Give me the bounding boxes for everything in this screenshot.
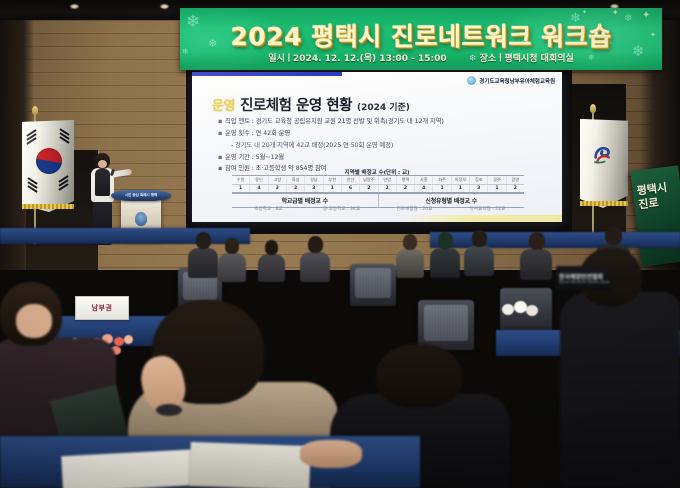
person-body bbox=[188, 248, 218, 278]
snowflake-icon: ❄ bbox=[469, 54, 477, 64]
star-icon: ✦ bbox=[612, 9, 619, 17]
bullet-dot-icon: ▪ bbox=[218, 152, 225, 164]
table-header-cell: 평택 bbox=[397, 176, 415, 184]
person-hand bbox=[300, 440, 362, 468]
person-body bbox=[258, 254, 285, 282]
speaker-face bbox=[98, 160, 107, 168]
podium-sign-text: 시민 중심 특례시 평택 bbox=[121, 193, 161, 198]
podium-top-panel: 시민 중심 특례시 평택 bbox=[111, 190, 171, 201]
bullet-text: - 경기도 내 20개 지역에 42교 배정(2025 연 50회 운영 예정) bbox=[231, 141, 393, 149]
wristwatch bbox=[156, 404, 182, 416]
banner-place-value: 평택시청 대회의실 bbox=[504, 54, 573, 64]
ceiling-light bbox=[70, 4, 79, 9]
chair-mesh bbox=[424, 305, 468, 341]
banner-place-label: 장소 bbox=[480, 54, 497, 64]
audience-person bbox=[218, 238, 246, 282]
jacket-logo: 한국해양안전협회 Korea Maritime Safety Associati… bbox=[556, 266, 610, 290]
table-header-cell: 의정부 bbox=[452, 176, 470, 184]
person-body bbox=[464, 246, 494, 276]
summary-value: 유아교육형 : 22교 bbox=[451, 206, 524, 212]
person-body bbox=[300, 252, 330, 282]
person-head bbox=[265, 240, 278, 255]
table-header-cell: 안양 bbox=[379, 176, 397, 184]
table-cell: 3 bbox=[305, 185, 323, 192]
person-head bbox=[403, 234, 417, 250]
slide-highlight-band bbox=[402, 215, 562, 222]
flower-arrangement bbox=[502, 300, 542, 326]
list-item: ▪운영 기간 : 5월~12월 bbox=[218, 152, 548, 164]
table-cell: 2 bbox=[360, 185, 378, 192]
flag-fringe bbox=[22, 204, 74, 209]
table-row: 1432316222411312 bbox=[232, 185, 524, 192]
table-cell: 2 bbox=[379, 185, 397, 192]
bullet-dot-icon: ▪ bbox=[218, 116, 225, 128]
table-header-cell: 남양주 bbox=[360, 176, 378, 184]
slide-title: 진로체험 운영 현황 bbox=[240, 94, 352, 115]
table-header-cell: 용인 bbox=[250, 176, 268, 184]
projection-slide: 경기도교육청남부유아체험교육원 운영 진로체험 운영 현황 (2024 기준) … bbox=[192, 72, 562, 222]
slide-table: 수원용인고양화성성남부천안산남양주안양평택시흥파주의정부김포광주광명 14323… bbox=[232, 175, 524, 193]
side-banner-line2: 진로 bbox=[638, 195, 670, 212]
table-header-cell: 파주 bbox=[433, 176, 451, 184]
table-cell: 3 bbox=[269, 185, 287, 192]
person-body bbox=[396, 249, 424, 278]
table-cell: 2 bbox=[397, 185, 415, 192]
flag-shading bbox=[580, 118, 628, 208]
org-logo-mark-icon bbox=[467, 76, 476, 85]
person-head bbox=[196, 232, 211, 249]
audience-person bbox=[396, 234, 424, 278]
person-body bbox=[560, 292, 680, 488]
table-cell: 4 bbox=[250, 185, 268, 192]
person-head bbox=[225, 238, 239, 254]
slide-kicker: 운영 bbox=[212, 95, 235, 114]
korean-national-flag bbox=[22, 120, 74, 212]
person-head bbox=[529, 232, 545, 250]
star-icon: ✦ bbox=[582, 10, 587, 16]
list-item: ▪운영 횟수 : 연 42회 운영 bbox=[218, 128, 548, 140]
person-face bbox=[16, 304, 52, 338]
list-item: - 경기도 내 20개 지역에 42교 배정(2025 연 50회 운영 예정) bbox=[218, 140, 548, 152]
person-body bbox=[218, 253, 246, 282]
table-cell: 1 bbox=[433, 185, 451, 192]
table-header-cell: 수원 bbox=[232, 176, 250, 184]
table-header-cell: 시흥 bbox=[415, 176, 433, 184]
bullet-text: 운영 횟수 : 연 42회 운영 bbox=[225, 129, 290, 137]
table-header-cell: 광주 bbox=[488, 176, 506, 184]
table-cell: 4 bbox=[415, 185, 433, 192]
bullet-dot-icon: ▪ bbox=[218, 128, 225, 140]
table-header-cell: 성남 bbox=[305, 176, 323, 184]
table-header-cell: 김포 bbox=[470, 176, 488, 184]
ceiling-light bbox=[160, 4, 169, 9]
table-header-cell: 고양 bbox=[269, 176, 287, 184]
audience-person bbox=[464, 230, 494, 276]
audience-person bbox=[430, 232, 460, 278]
speaker-vest bbox=[95, 169, 110, 196]
table-header-cell: 광명 bbox=[507, 176, 524, 184]
flag-fringe bbox=[580, 201, 628, 206]
bullet-text: 운영 기간 : 5월~12월 bbox=[225, 153, 284, 161]
audience-person bbox=[258, 240, 285, 282]
table-header-cell: 화성 bbox=[287, 176, 305, 184]
table-cell: 2 bbox=[507, 185, 524, 192]
side-banner-text: 평택시 진로 bbox=[636, 181, 670, 212]
table-row: 수원용인고양화성성남부천안산남양주안양평택시흥파주의정부김포광주광명 bbox=[232, 176, 524, 185]
person-body bbox=[430, 248, 460, 278]
banner-title: 2024 평택시 진로네트워크 워크숍 bbox=[180, 17, 662, 53]
table-cell: 1 bbox=[324, 185, 342, 192]
table-cell: 3 bbox=[470, 185, 488, 192]
handout-document bbox=[189, 442, 310, 488]
table-cell: 1 bbox=[232, 185, 250, 192]
podium-emblem-icon bbox=[135, 212, 147, 226]
audience-person bbox=[520, 232, 552, 280]
table-cell: 1 bbox=[452, 185, 470, 192]
slide-org-logo: 경기도교육청남부유아체험교육원 bbox=[467, 76, 555, 85]
banner-sep: ㅣ bbox=[285, 54, 293, 64]
table-cell: 1 bbox=[488, 185, 506, 192]
flag-shading bbox=[22, 120, 74, 212]
slide-heading: 운영 진로체험 운영 현황 (2024 기준) bbox=[212, 94, 410, 115]
person-head bbox=[376, 344, 462, 408]
audience-person bbox=[188, 232, 218, 278]
table-header-cell: 부천 bbox=[324, 176, 342, 184]
person-head bbox=[605, 226, 622, 245]
slide-title-note: (2024 기준) bbox=[357, 100, 410, 113]
person-head bbox=[308, 236, 323, 253]
table-cell: 6 bbox=[342, 185, 360, 192]
bullet-text: 직업 멘토 : 경기도 교육청 공립유치원 교원 21명 선발 및 위촉(경기도… bbox=[225, 117, 444, 125]
table-cell: 2 bbox=[287, 185, 305, 192]
summary-value: 중·고등학교 : 34교 bbox=[305, 206, 378, 212]
banner-date-value: 2024. 12. 12.(목) 13:00 - 15:00 bbox=[293, 54, 447, 64]
person-body bbox=[520, 249, 552, 280]
banner-date-label: 일시 bbox=[268, 54, 285, 64]
person-head bbox=[472, 230, 487, 247]
banner-subtitle: 일시ㅣ2024. 12. 12.(목) 13:00 - 15:00 ❄ 장소ㅣ평… bbox=[180, 51, 662, 64]
government-flag bbox=[580, 118, 628, 208]
audience-person bbox=[300, 236, 330, 282]
list-item: ▪직업 멘토 : 경기도 교육청 공립유치원 교원 21명 선발 및 위촉(경기… bbox=[218, 116, 548, 128]
slide-org-name: 경기도교육청남부유아체험교육원 bbox=[479, 77, 555, 85]
event-banner: ❄ ❄ ❄ ❄ ❄ ❄ ❄ ❄ ✦ ✦ ✦ ✦ 2024 평택시 진로네트워크 … bbox=[180, 8, 662, 70]
jacket-org-name-en: Korea Maritime Safety Association bbox=[559, 280, 610, 284]
slide-accent-bar bbox=[192, 72, 342, 76]
conference-photo-scene: ❄ ❄ ❄ ❄ ❄ ❄ ❄ ❄ ✦ ✦ ✦ ✦ 2024 평택시 진로네트워크 … bbox=[0, 0, 680, 488]
person-head bbox=[438, 232, 453, 249]
slide-summary-values: 초등학교 : 8교 중·고등학교 : 34교 진로체험형 : 20교 유아교육형… bbox=[232, 206, 524, 212]
chair-mesh bbox=[355, 268, 391, 298]
summary-value: 초등학교 : 8교 bbox=[232, 206, 305, 212]
table-header-cell: 안산 bbox=[342, 176, 360, 184]
slide-bullet-list: ▪직업 멘토 : 경기도 교육청 공립유치원 교원 21명 선발 및 위촉(경기… bbox=[218, 116, 548, 175]
summary-value: 진로체험형 : 20교 bbox=[378, 206, 451, 212]
